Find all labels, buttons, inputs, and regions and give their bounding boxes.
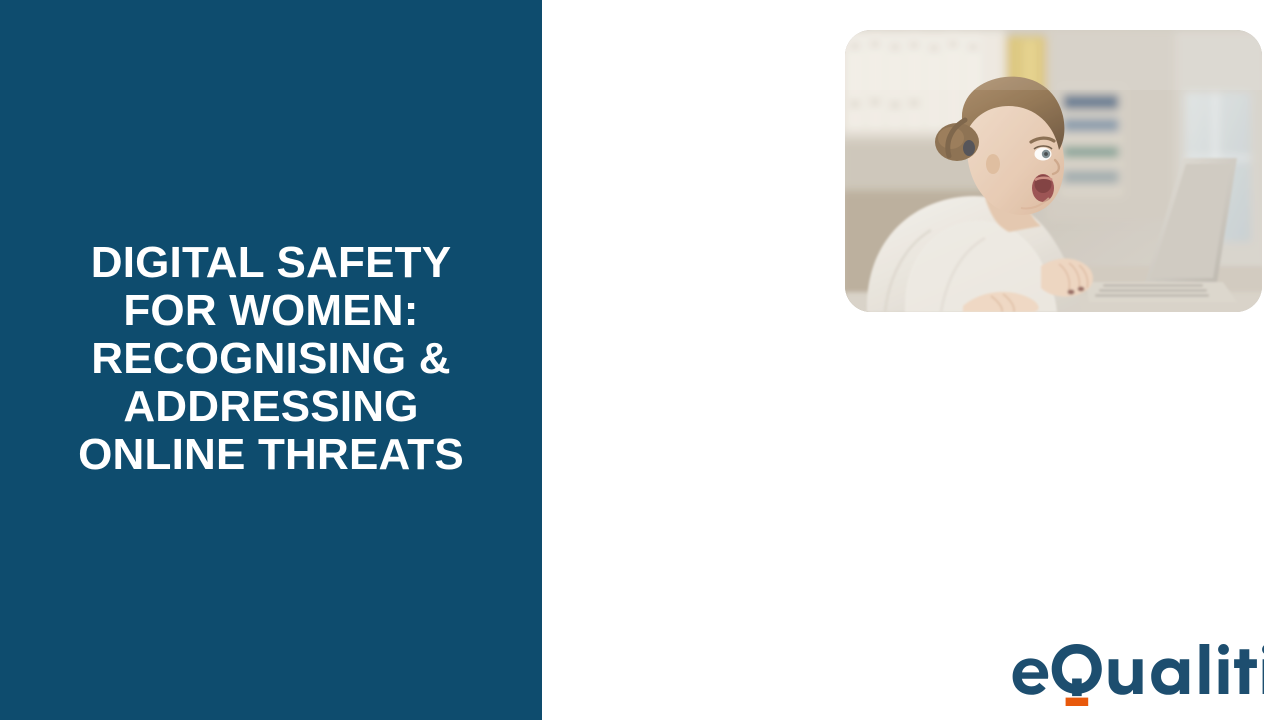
slide-root: DIGITAL SAFETY FOR WOMEN: RECOGNISING & … <box>0 0 1280 720</box>
slide-title: DIGITAL SAFETY FOR WOMEN: RECOGNISING & … <box>36 239 506 479</box>
hero-image-graphic <box>845 30 1262 312</box>
title-panel: DIGITAL SAFETY FOR WOMEN: RECOGNISING & … <box>0 0 542 720</box>
logo-accent-bar <box>1066 698 1089 706</box>
equalitie-logo-graphic <box>1012 644 1264 706</box>
equalitie-logo <box>1012 644 1264 706</box>
hero-image <box>845 30 1262 312</box>
